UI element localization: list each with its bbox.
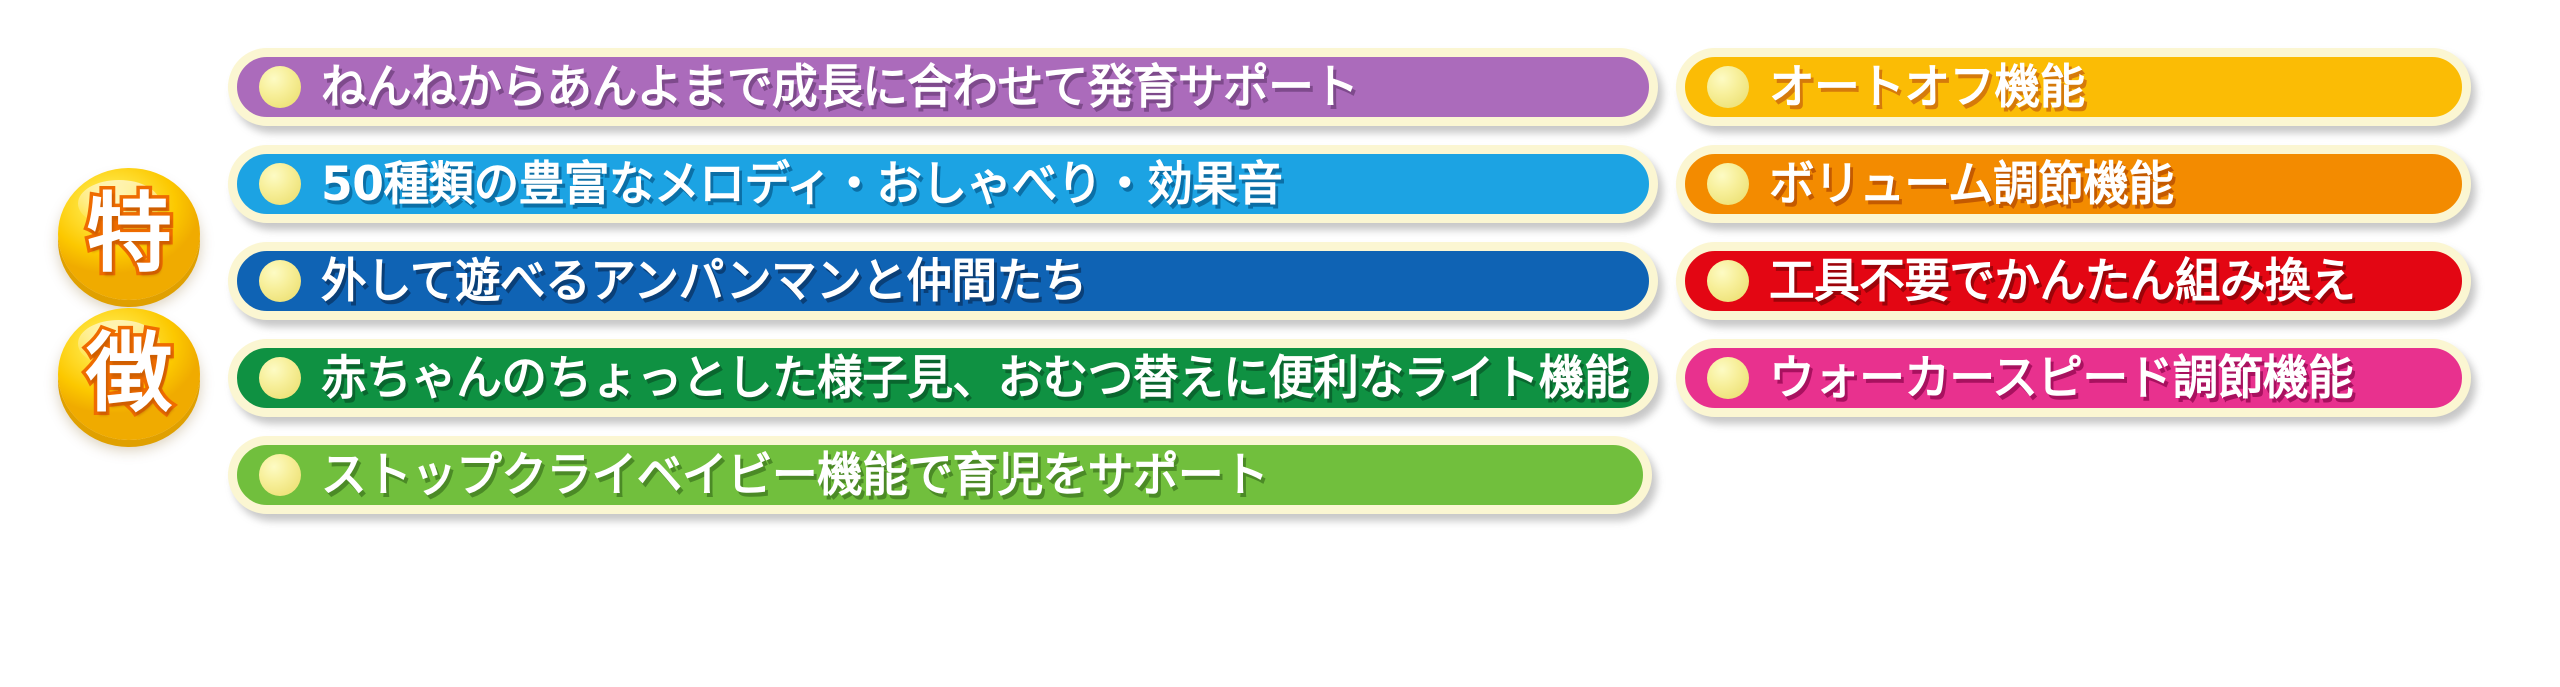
- feature-bar-label: 工具不要でかんたん組み換え: [1769, 258, 2355, 305]
- feature-bar: ウォーカースピード調節機能: [1676, 339, 2471, 417]
- feature-list-right: オートオフ機能 ボリューム調節機能 工具不要でかんたん組み換え ウォーカースピー…: [1676, 48, 2471, 417]
- feature-bar: ねんねからあんよまで成長に合わせて発育サポート: [228, 48, 1658, 126]
- bullet-dot-icon: [1707, 66, 1749, 108]
- feature-bar: 赤ちゃんのちょっとした様子見、おむつ替えに便利なライト機能: [228, 339, 1658, 417]
- feature-bar-label: ウォーカースピード調節機能: [1769, 355, 2353, 402]
- bullet-dot-icon: [259, 260, 301, 302]
- bullet-dot-icon: [1707, 357, 1749, 399]
- feature-bar: オートオフ機能: [1676, 48, 2471, 126]
- feature-bar-label: 赤ちゃんのちょっとした様子見、おむつ替えに便利なライト機能: [321, 355, 1629, 402]
- feature-bar: 50種類の豊富なメロディ・おしゃべり・効果音: [228, 145, 1658, 223]
- feature-bar: ボリューム調節機能: [1676, 145, 2471, 223]
- features-badge-glyph: 徴: [86, 331, 172, 417]
- features-badge-group: 特 徴: [58, 168, 208, 440]
- feature-bar: 工具不要でかんたん組み換え: [1676, 242, 2471, 320]
- bullet-dot-icon: [1707, 260, 1749, 302]
- bullet-dot-icon: [259, 454, 301, 496]
- feature-bar-label: 50種類の豊富なメロディ・おしゃべり・効果音: [321, 161, 1282, 208]
- features-banner: 特 徴 ねんねからあんよまで成長に合わせて発育サポート 50種類の豊富なメロディ…: [0, 0, 2560, 687]
- feature-bar-label: オートオフ機能: [1769, 64, 2085, 111]
- feature-bar-label: 外して遊べるアンパンマンと仲間たち: [321, 258, 1087, 305]
- bullet-dot-icon: [259, 163, 301, 205]
- feature-bar: 外して遊べるアンパンマンと仲間たち: [228, 242, 1658, 320]
- feature-bar: ストップクライベイビー機能で育児をサポート: [228, 436, 1652, 514]
- bullet-dot-icon: [259, 66, 301, 108]
- bullet-dot-icon: [1707, 163, 1749, 205]
- feature-bar-label: ボリューム調節機能: [1769, 161, 2174, 208]
- bullet-dot-icon: [259, 357, 301, 399]
- features-badge-toku: 特: [58, 168, 200, 300]
- features-badge-glyph: 特: [86, 191, 172, 277]
- feature-bar-label: ストップクライベイビー機能で育児をサポート: [321, 452, 1268, 499]
- feature-list-left: ねんねからあんよまで成長に合わせて発育サポート 50種類の豊富なメロディ・おしゃ…: [228, 48, 1658, 514]
- features-badge-chou: 徴: [58, 308, 200, 440]
- feature-bar-label: ねんねからあんよまで成長に合わせて発育サポート: [321, 64, 1358, 111]
